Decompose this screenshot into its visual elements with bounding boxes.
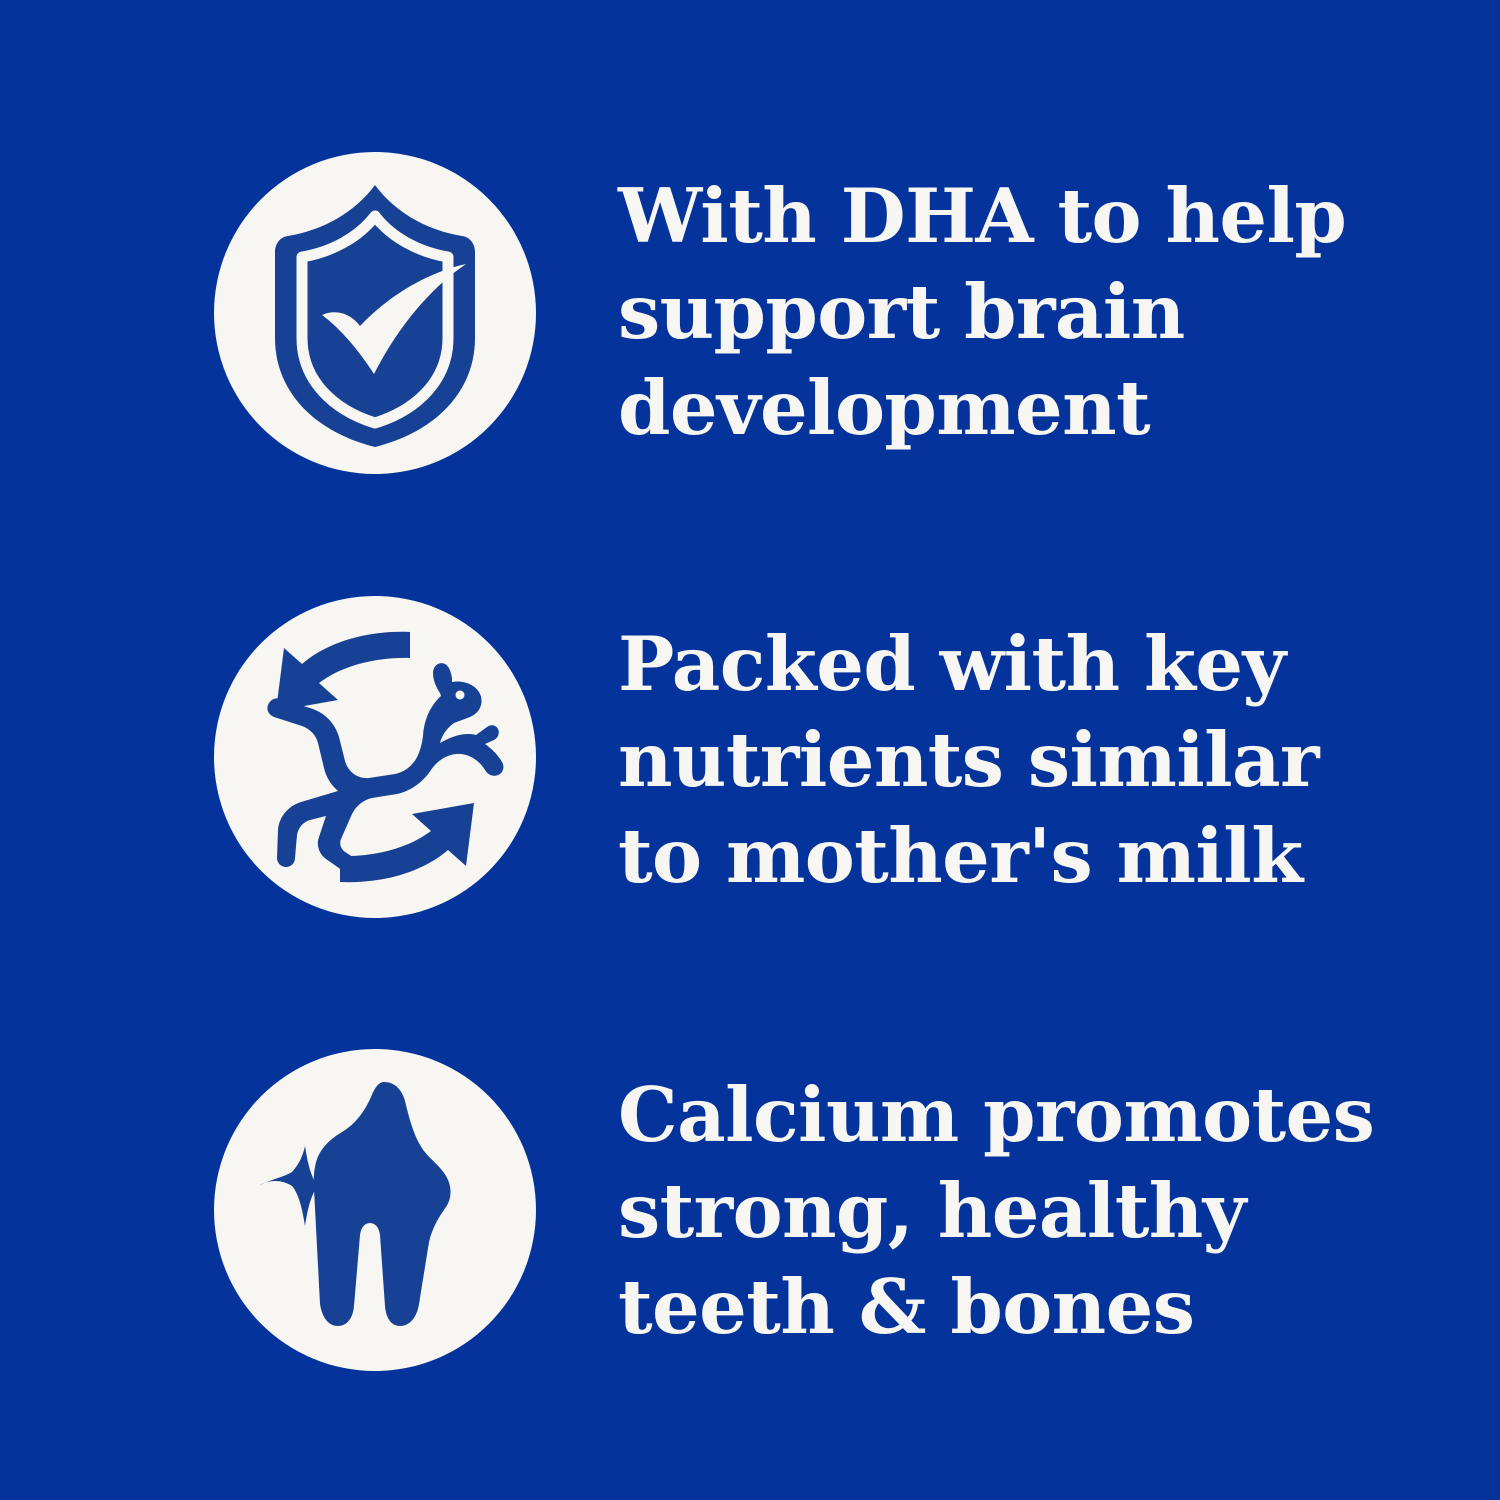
benefit-text-line: nutrients similar	[618, 712, 1308, 808]
benefit-row: Packed with key nutrients similar to mot…	[0, 596, 1500, 918]
benefit-text-line: Calcium promotes	[618, 1067, 1308, 1163]
benefit-text-line: development	[618, 360, 1308, 456]
benefit-panel: With DHA to help support brain developme…	[0, 0, 1500, 1500]
benefit-text-line: support brain	[618, 264, 1308, 360]
benefit-text: With DHA to help support brain developme…	[618, 168, 1308, 456]
benefit-text-line: Packed with key	[618, 616, 1308, 712]
benefit-text-line: to mother's milk	[618, 808, 1308, 904]
running-puppy-cycle-icon	[214, 596, 536, 918]
benefit-text-line: With DHA to help	[618, 168, 1308, 264]
benefit-text: Packed with key nutrients similar to mot…	[618, 616, 1308, 904]
benefit-text-line: teeth & bones	[618, 1259, 1308, 1355]
benefit-text-line: strong, healthy	[618, 1163, 1308, 1259]
shield-check-icon	[214, 152, 536, 474]
benefit-row: With DHA to help support brain developme…	[0, 152, 1500, 474]
sparkling-tooth-icon	[214, 1049, 536, 1371]
benefit-text: Calcium promotes strong, healthy teeth &…	[618, 1067, 1308, 1355]
benefit-row: Calcium promotes strong, healthy teeth &…	[0, 1049, 1500, 1371]
